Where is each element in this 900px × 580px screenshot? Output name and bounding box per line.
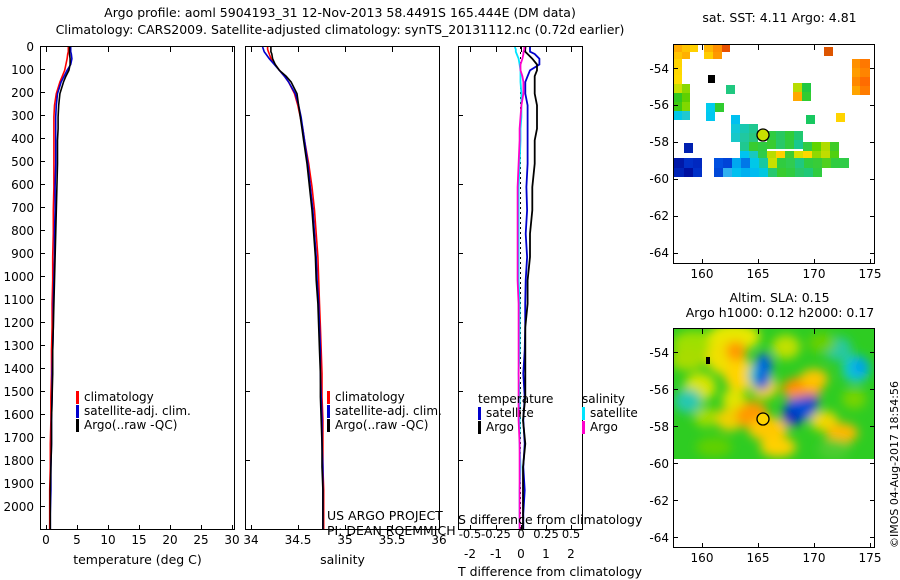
sla-map-title-line2: Argo h1000: 0.12 h2000: 0.17 xyxy=(665,305,895,320)
copyright-notice: ©IMOS 04-Aug-2017 18:54:56 xyxy=(888,381,900,548)
legend-swatch-argo xyxy=(76,419,79,432)
legend-swatch-salinity-satellite xyxy=(582,407,585,420)
legend-swatch-temperature-satellite xyxy=(478,407,481,420)
salinity-curve-satellite-adj xyxy=(263,47,323,529)
legend-label-satellite-adj: satellite-adj. clim. xyxy=(84,404,191,418)
legend-swatch-climatology xyxy=(76,391,79,404)
legend-label-argo: Argo(..raw -QC) xyxy=(84,418,177,432)
difference-legend-heading-salinity: salinity xyxy=(582,392,638,406)
sst-map-title: sat. SST: 4.11 Argo: 4.81 xyxy=(672,10,887,25)
legend-item-climatology: climatology xyxy=(327,390,442,404)
page-title-line2: Climatology: CARS2009. Satellite-adjuste… xyxy=(0,22,680,37)
legend-item-salinity-satellite: satellite xyxy=(582,406,638,420)
legend-label-climatology: climatology xyxy=(84,390,154,404)
salinity-curve-climatology xyxy=(268,47,324,529)
temperature-x-axis-label: temperature (deg C) xyxy=(40,552,235,567)
salinity-plot xyxy=(246,47,439,529)
legend-item-salinity-argo: Argo xyxy=(582,420,638,434)
legend-label-climatology: climatology xyxy=(335,390,405,404)
sla-map-title-line1: Altim. SLA: 0.15 xyxy=(672,290,887,305)
page-title-line1: Argo profile: aoml 5904193_31 12-Nov-201… xyxy=(0,5,680,20)
salinity-x-axis-label: salinity xyxy=(245,552,440,567)
difference-plot xyxy=(459,47,582,529)
pi-credit: PI: DEAN ROEMMICH xyxy=(327,523,456,538)
legend-label-satellite-adj: satellite-adj. clim. xyxy=(335,404,442,418)
legend-label-argo: Argo(..raw -QC) xyxy=(335,418,428,432)
salinity-legend: climatology satellite-adj. clim. Argo(..… xyxy=(327,390,442,432)
salinity-curve-argo xyxy=(271,47,323,529)
sst-map-plot xyxy=(674,45,874,263)
legend-item-argo: Argo(..raw -QC) xyxy=(327,418,442,432)
profile-location-marker xyxy=(757,129,769,141)
difference-temperature-axis-label: T difference from climatology xyxy=(458,564,648,579)
legend-item-argo: Argo(..raw -QC) xyxy=(76,418,191,432)
legend-swatch-argo xyxy=(327,419,330,432)
legend-label-salinity-satellite: satellite xyxy=(590,406,638,420)
legend-label-temperature-argo: Argo xyxy=(486,420,514,434)
legend-swatch-climatology xyxy=(327,391,330,404)
legend-swatch-satellite-adj xyxy=(76,405,79,418)
legend-label-salinity-argo: Argo xyxy=(590,420,618,434)
sla-map-plot xyxy=(674,329,874,547)
profile-location-marker xyxy=(757,413,769,425)
difference-legend-temperature: temperature satellite Argo xyxy=(478,392,553,434)
legend-item-satellite-adj: satellite-adj. clim. xyxy=(327,404,442,418)
legend-item-satellite-adj: satellite-adj. clim. xyxy=(76,404,191,418)
temperature-legend: climatology satellite-adj. clim. Argo(..… xyxy=(76,390,191,432)
legend-swatch-salinity-argo xyxy=(582,421,585,434)
temperature-plot xyxy=(41,47,234,529)
legend-item-temperature-argo: Argo xyxy=(478,420,553,434)
difference-legend-heading-temperature: temperature xyxy=(478,392,553,406)
temperature-curve-climatology xyxy=(50,47,69,529)
legend-item-climatology: climatology xyxy=(76,390,191,404)
legend-label-temperature-satellite: satellite xyxy=(486,406,534,420)
difference-legend-salinity: salinity satellite Argo xyxy=(582,392,638,434)
legend-swatch-temperature-argo xyxy=(478,421,481,434)
difference-salinity-axis-label: S difference from climatology xyxy=(458,512,638,527)
legend-item-temperature-satellite: satellite xyxy=(478,406,553,420)
legend-swatch-satellite-adj xyxy=(327,405,330,418)
us-argo-project-credit: US ARGO PROJECT xyxy=(327,508,443,523)
